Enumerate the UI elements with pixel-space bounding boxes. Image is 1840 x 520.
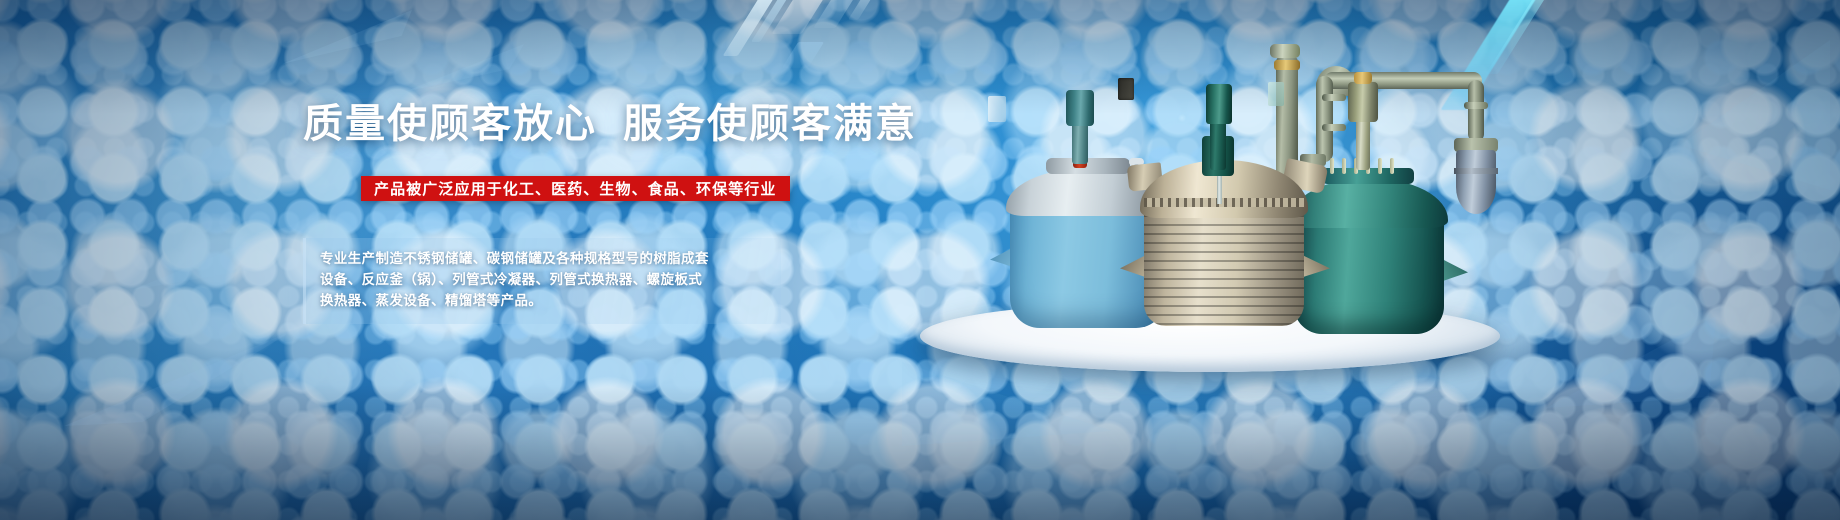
downcomer-pipe bbox=[1468, 80, 1484, 142]
agitator-motor bbox=[1206, 84, 1232, 124]
description-line-3: 换热器、蒸发设备、精馏塔等产品。 bbox=[320, 290, 790, 311]
description-line-1: 专业生产制造不锈钢储罐、碳钢储罐及各种规格型号的树脂成套 bbox=[320, 248, 790, 269]
reactor-vessel-steel bbox=[1118, 78, 1330, 330]
vessel-support-leg-right bbox=[1440, 258, 1468, 282]
description-line-2: 设备、反应釜（锅）、列管式冷凝器、列管式换热器、螺旋板式 bbox=[320, 269, 790, 290]
tagline-text: 产品被广泛应用于化工、医药、生物、食品、环保等行业 bbox=[374, 178, 777, 199]
tagline-badge: 产品被广泛应用于化工、医药、生物、食品、环保等行业 bbox=[361, 176, 790, 201]
promotional-banner: 质量使顾客放心服务使顾客满意 产品被广泛应用于化工、医药、生物、食品、环保等行业… bbox=[0, 0, 1840, 520]
description-text: 专业生产制造不锈钢储罐、碳钢储罐及各种规格型号的树脂成套 设备、反应釜（锅）、列… bbox=[320, 248, 790, 311]
headline-part-1: 质量使顾客放心 bbox=[303, 102, 597, 146]
column-brass-fitting bbox=[1274, 60, 1300, 70]
headline-part-2: 服务使顾客满意 bbox=[623, 102, 917, 146]
vessel-support-leg-right bbox=[1300, 254, 1330, 278]
motor-brass-cap bbox=[1354, 72, 1372, 84]
page-title: 质量使顾客放心服务使顾客满意 bbox=[303, 91, 917, 149]
vessel-shell-ribbed bbox=[1144, 206, 1304, 326]
agitator-shaft bbox=[1072, 120, 1088, 164]
agitator-shaft bbox=[1356, 118, 1370, 170]
sight-glass bbox=[988, 96, 1006, 122]
agitator-motor bbox=[1348, 82, 1378, 122]
column-cap bbox=[1270, 44, 1300, 58]
vessel-bolt-band bbox=[1144, 198, 1304, 207]
banner-copy-block: 质量使顾客放心服务使顾客满意 产品被广泛应用于化工、医药、生物、食品、环保等行业… bbox=[0, 0, 900, 520]
equipment-illustration bbox=[880, 0, 1840, 520]
agitator-shaft bbox=[1210, 118, 1226, 170]
agitator-motor bbox=[1066, 90, 1094, 126]
sight-glass bbox=[1118, 78, 1134, 100]
